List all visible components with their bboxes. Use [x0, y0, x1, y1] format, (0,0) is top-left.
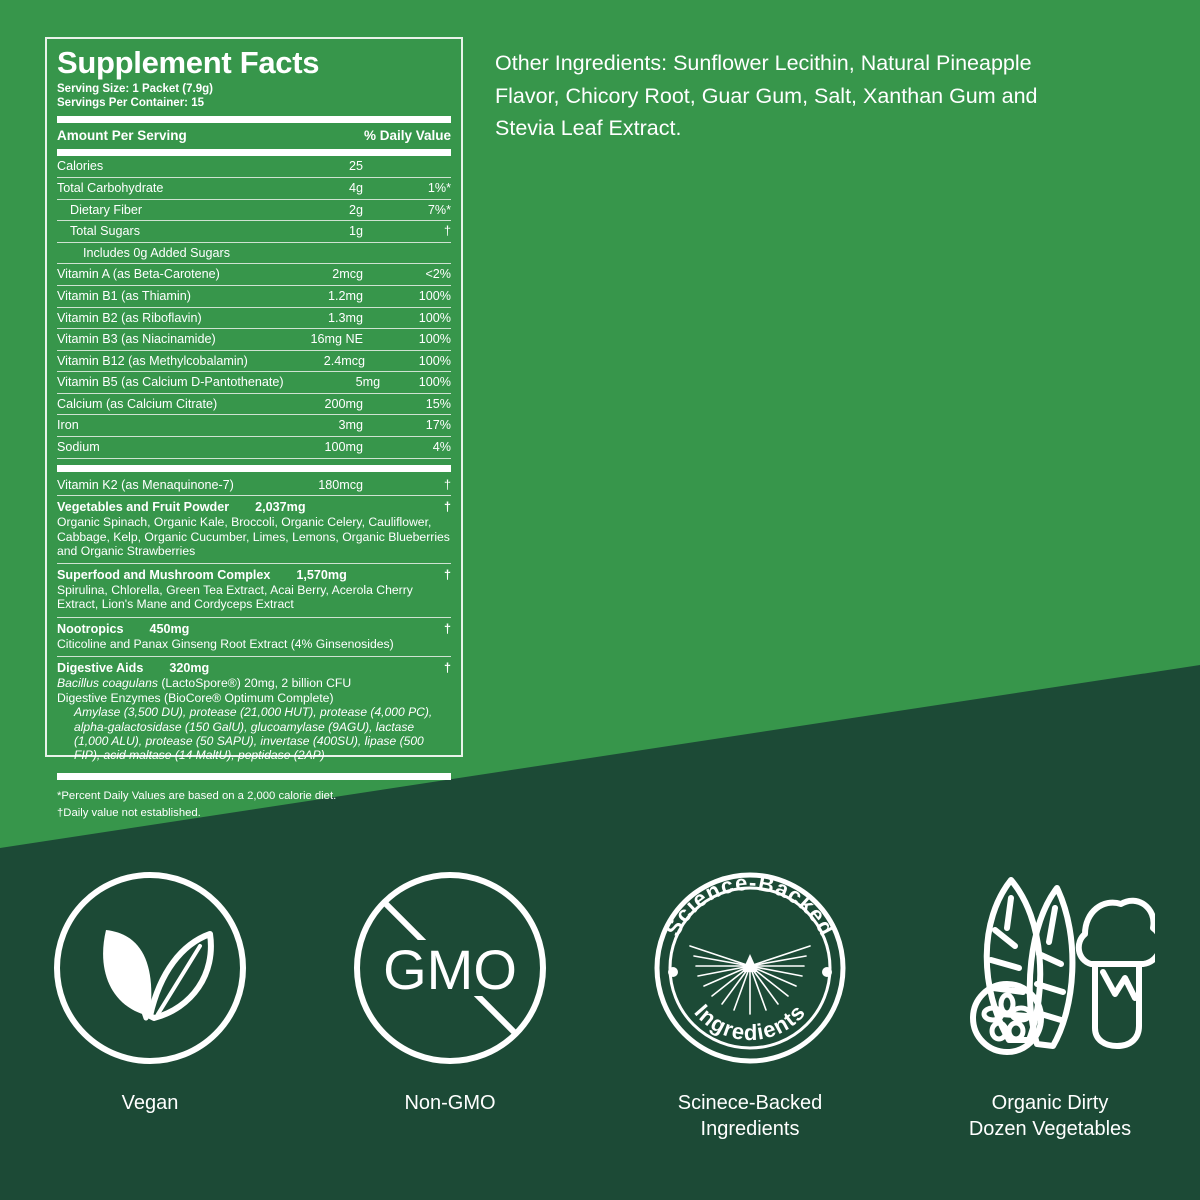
table-row: Calcium (as Calcium Citrate)200mg15%: [57, 394, 451, 416]
table-header-row: Amount Per Serving % Daily Value: [57, 126, 451, 146]
nutrient-daily-value: 15%: [363, 398, 451, 411]
nutrient-name: Vitamin K2 (as Menaquinone-7): [57, 479, 243, 492]
blend-daily-value: †: [444, 622, 451, 636]
nutrient-name: Vitamin B3 (as Niacinamide): [57, 333, 243, 346]
table-row: Vitamin B1 (as Thiamin)1.2mg100%: [57, 286, 451, 308]
nutrient-amount: 100mg: [243, 441, 363, 454]
nutrient-amount: 1g: [243, 225, 363, 238]
divider-thick-above-footnotes: [57, 773, 451, 780]
divider-thick-above-k2: [57, 465, 451, 472]
table-row: Vitamin B3 (as Niacinamide)16mg NE100%: [57, 329, 451, 351]
blend-header: Digestive Aids 320mg †: [57, 661, 451, 675]
blend-ingredients: Organic Spinach, Organic Kale, Broccoli,…: [57, 515, 451, 558]
nutrient-daily-value: 100%: [365, 355, 451, 368]
gmo-icon-text: GMO: [383, 938, 517, 1001]
nutrient-amount: 1.3mg: [243, 312, 363, 325]
table-row: Vitamin B12 (as Methylcobalamin)2.4mcg10…: [57, 351, 451, 373]
blend-group: Nootropics450mg†Citicoline and Panax Gin…: [57, 618, 451, 657]
supplement-facts-panel: Supplement Facts Serving Size: 1 Packet …: [45, 37, 463, 757]
badge-vegan: Vegan: [0, 868, 300, 1142]
divider-thick-under-header: [57, 149, 451, 156]
amount-per-serving-header: Amount Per Serving: [57, 128, 187, 143]
vegetables-icon: [945, 868, 1155, 1068]
nutrient-amount: 200mg: [243, 398, 363, 411]
servings-per-container: Servings Per Container: 15: [57, 96, 451, 110]
proprietary-blend-list: Vegetables and Fruit Powder2,037mg†Organ…: [57, 496, 451, 657]
nutrient-table: Calories25Total Carbohydrate4g1%*Dietary…: [57, 156, 451, 458]
nutrient-daily-value: †: [363, 479, 451, 492]
other-ingredients-text: Other Ingredients: Sunflower Lecithin, N…: [495, 47, 1095, 145]
table-row: Vitamin B2 (as Riboflavin)1.3mg100%: [57, 308, 451, 330]
nutrient-amount: 5mg: [284, 376, 381, 389]
table-row: Vitamin B5 (as Calcium D-Pantothenate)5m…: [57, 372, 451, 394]
badge-science-backed: Science-Backed Ingredients: [600, 868, 900, 1142]
blend-daily-value: †: [444, 568, 451, 582]
badge-label: Vegan: [122, 1090, 179, 1116]
bacillus-coagulans-italic: Bacillus coagulans: [57, 676, 158, 690]
nutrient-name: Calories: [57, 160, 243, 173]
nutrient-name: Includes 0g Added Sugars: [57, 247, 243, 260]
nutrient-name: Calcium (as Calcium Citrate): [57, 398, 243, 411]
table-row: Total Carbohydrate4g1%*: [57, 178, 451, 200]
blend-amount: 2,037mg: [229, 500, 305, 514]
nutrient-name: Iron: [57, 419, 243, 432]
blend-name: Nootropics: [57, 622, 123, 636]
blend-header: Nootropics450mg†: [57, 622, 451, 636]
table-row: Total Sugars1g†: [57, 221, 451, 243]
nutrient-daily-value: 7%*: [363, 204, 451, 217]
nutrient-daily-value: 100%: [363, 290, 451, 303]
nutrient-name: Vitamin B1 (as Thiamin): [57, 290, 243, 303]
nutrient-daily-value: 1%*: [363, 182, 451, 195]
digestive-probiotic-line: Bacillus coagulans (LactoSpore®) 20mg, 2…: [57, 676, 451, 690]
supplement-facts-title: Supplement Facts: [57, 47, 451, 79]
table-row-vitamin-k2: Vitamin K2 (as Menaquinone-7) 180mcg †: [57, 475, 451, 497]
table-row: Dietary Fiber2g7%*: [57, 200, 451, 222]
blend-daily-value: †: [444, 500, 451, 514]
nutrient-daily-value: 100%: [380, 376, 451, 389]
blend-group-digestive-aids: Digestive Aids 320mg † Bacillus coagulan…: [57, 657, 451, 768]
nutrient-daily-value: <2%: [363, 268, 451, 281]
badge-non-gmo: GMO Non-GMO: [300, 868, 600, 1142]
nutrient-name: Sodium: [57, 441, 243, 454]
nutrient-name: Vitamin B12 (as Methylcobalamin): [57, 355, 248, 368]
science-backed-seal-icon: Science-Backed Ingredients: [650, 868, 850, 1068]
nutrient-amount: 4g: [243, 182, 363, 195]
table-row: Calories25: [57, 156, 451, 178]
blend-amount: 450mg: [123, 622, 189, 636]
nutrient-name: Total Carbohydrate: [57, 182, 243, 195]
serving-size: Serving Size: 1 Packet (7.9g): [57, 82, 451, 96]
nutrient-name: Vitamin B5 (as Calcium D-Pantothenate): [57, 376, 284, 389]
no-gmo-icon: GMO: [350, 868, 550, 1068]
divider-thick-top: [57, 116, 451, 123]
nutrient-amount: 2.4mcg: [248, 355, 365, 368]
badge-organic-vegetables: Organic Dirty Dozen Vegetables: [900, 868, 1200, 1142]
blend-daily-value: †: [444, 661, 451, 675]
svg-text:Science-Backed: Science-Backed: [660, 870, 840, 940]
digestive-enzymes-line: Digestive Enzymes (BioCore® Optimum Comp…: [57, 691, 451, 705]
daily-value-header: % Daily Value: [364, 128, 451, 143]
table-row: Iron3mg17%: [57, 415, 451, 437]
nutrient-amount: 180mcg: [243, 479, 363, 492]
blend-amount: 1,570mg: [270, 568, 346, 582]
nutrient-amount: 1.2mg: [243, 290, 363, 303]
footnote-percent-daily-value: *Percent Daily Values are based on a 2,0…: [57, 788, 451, 804]
leaf-circle-icon: [50, 868, 250, 1068]
nutrient-daily-value: 17%: [363, 419, 451, 432]
badge-label: Organic Dirty Dozen Vegetables: [969, 1090, 1131, 1142]
nutrient-name: Total Sugars: [57, 225, 243, 238]
badge-label: Scinece-Backed Ingredients: [678, 1090, 823, 1142]
blend-name: Superfood and Mushroom Complex: [57, 568, 270, 582]
table-row: Sodium100mg4%: [57, 437, 451, 459]
blend-group: Superfood and Mushroom Complex1,570mg†Sp…: [57, 564, 451, 618]
nutrient-amount: 2mcg: [243, 268, 363, 281]
footnote-daily-value-not-established: †Daily value not established.: [57, 805, 451, 821]
nutrient-name: Dietary Fiber: [57, 204, 243, 217]
nutrient-daily-value: 100%: [363, 333, 451, 346]
certification-badges: Vegan GMO Non-GMO Science-Ba: [0, 868, 1200, 1142]
blend-header: Superfood and Mushroom Complex1,570mg†: [57, 568, 451, 582]
nutrient-daily-value: †: [363, 225, 451, 238]
blend-ingredients: Spirulina, Chlorella, Green Tea Extract,…: [57, 583, 451, 612]
table-row: Vitamin A (as Beta-Carotene)2mcg<2%: [57, 264, 451, 286]
nutrient-name: Vitamin A (as Beta-Carotene): [57, 268, 243, 281]
blend-amount: 320mg: [143, 661, 209, 675]
nutrient-daily-value: 100%: [363, 312, 451, 325]
bacillus-coagulans-rest: (LactoSpore®) 20mg, 2 billion CFU: [158, 676, 351, 690]
blend-ingredients: Citicoline and Panax Ginseng Root Extrac…: [57, 637, 451, 651]
blend-group: Vegetables and Fruit Powder2,037mg†Organ…: [57, 496, 451, 564]
blend-name: Vegetables and Fruit Powder: [57, 500, 229, 514]
nutrient-amount: 25: [243, 160, 363, 173]
nutrient-amount: 2g: [243, 204, 363, 217]
badge-label: Non-GMO: [404, 1090, 495, 1116]
nutrient-amount: 3mg: [243, 419, 363, 432]
nutrient-amount: 16mg NE: [243, 333, 363, 346]
nutrient-daily-value: 4%: [363, 441, 451, 454]
enzyme-details: Amylase (3,500 DU), protease (21,000 HUT…: [57, 705, 451, 762]
footnotes: *Percent Daily Values are based on a 2,0…: [57, 783, 451, 821]
blend-header: Vegetables and Fruit Powder2,037mg†: [57, 500, 451, 514]
blend-name: Digestive Aids: [57, 661, 143, 675]
nutrient-name: Vitamin B2 (as Riboflavin): [57, 312, 243, 325]
table-row: Includes 0g Added Sugars: [57, 243, 451, 265]
